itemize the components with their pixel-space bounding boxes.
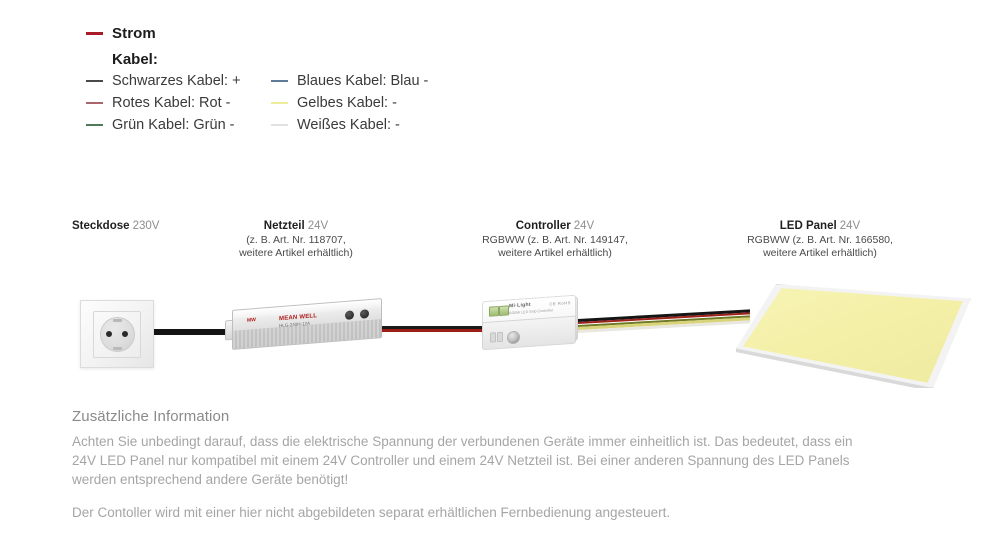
socket-earth-clip-top bbox=[113, 319, 122, 322]
wall-socket bbox=[80, 300, 154, 368]
rgbww-cable-ribbon bbox=[560, 309, 750, 336]
controller-front-face bbox=[482, 316, 576, 351]
driver-logo: MW bbox=[247, 317, 256, 324]
legend-power-row: Strom bbox=[86, 22, 506, 44]
socket-voltage: 230V bbox=[133, 220, 160, 232]
white-cable-label: Weißes Kabel: - bbox=[297, 117, 400, 133]
controller-brand-text: Mi·Light bbox=[509, 302, 531, 310]
controller-voltage: 24V bbox=[574, 220, 594, 232]
led-panel bbox=[736, 284, 971, 388]
legend-cables-heading: Kabel: bbox=[112, 51, 506, 68]
driver-sub-line2: weitere Artikel erhältlich) bbox=[196, 247, 396, 261]
legend-column-left: Schwarzes Kabel: + Rotes Kabel: Rot - Gr… bbox=[86, 70, 271, 136]
blue-cable-label: Blaues Kabel: Blau - bbox=[297, 73, 428, 89]
driver-adjust-knob-1 bbox=[345, 310, 354, 320]
caption-driver: Netzteil 24V (z. B. Art. Nr. 118707, wei… bbox=[196, 220, 396, 261]
red-cable-swatch bbox=[86, 102, 103, 104]
legend-item-white-cable: Weißes Kabel: - bbox=[271, 114, 456, 136]
panel-voltage: 24V bbox=[840, 220, 860, 232]
yellow-cable-label: Gelbes Kabel: - bbox=[297, 95, 397, 111]
driver-voltage: 24V bbox=[308, 220, 328, 232]
panel-caption-main: LED Panel 24V bbox=[700, 220, 940, 234]
legend-cable-columns: Schwarzes Kabel: + Rotes Kabel: Rot - Gr… bbox=[86, 70, 506, 136]
additional-information-section: Zusätzliche Information Achten Sie unbed… bbox=[72, 408, 872, 522]
led-power-supply: MW MEAN WELL HLG-240H-12A bbox=[232, 298, 382, 350]
controller-terminal-1 bbox=[489, 306, 499, 317]
controller-sub-line1: RGBWW (z. B. Art. Nr. 149147, bbox=[450, 234, 660, 248]
legend-item-yellow-cable: Gelbes Kabel: - bbox=[271, 92, 456, 114]
panel-sub-line2: weitere Artikel erhältlich) bbox=[700, 247, 940, 261]
dc-red-wire bbox=[374, 329, 490, 332]
legend-item-red-cable: Rotes Kabel: Rot - bbox=[86, 92, 271, 114]
controller-pairing-button[interactable] bbox=[507, 331, 520, 345]
rgbww-controller: Mi·Light RGBW LED Strip Controller CE Ro… bbox=[482, 295, 574, 349]
controller-sub-line2: weitere Artikel erhältlich) bbox=[450, 247, 660, 261]
caption-panel: LED Panel 24V RGBWW (z. B. Art. Nr. 1665… bbox=[700, 220, 940, 261]
legend-power-label: Strom bbox=[112, 25, 156, 42]
controller-port-1 bbox=[490, 332, 496, 342]
wiring-legend: Strom Kabel: Schwarzes Kabel: + Rotes Ka… bbox=[86, 22, 506, 136]
legend-item-black-cable: Schwarzes Kabel: + bbox=[86, 70, 271, 92]
power-line-swatch bbox=[86, 32, 103, 35]
legend-item-blue-cable: Blaues Kabel: Blau - bbox=[271, 70, 456, 92]
white-cable-swatch bbox=[271, 124, 288, 126]
controller-certification-marks: CE RoHS bbox=[549, 300, 571, 307]
caption-controller: Controller 24V RGBWW (z. B. Art. Nr. 149… bbox=[450, 220, 660, 261]
blue-cable-swatch bbox=[271, 80, 288, 82]
socket-earth-clip-bottom bbox=[113, 347, 122, 350]
controller-port-2 bbox=[497, 332, 503, 342]
legend-item-green-cable: Grün Kabel: Grün - bbox=[86, 114, 271, 136]
black-cable-swatch bbox=[86, 80, 103, 82]
black-cable-label: Schwarzes Kabel: + bbox=[112, 73, 241, 89]
caption-socket: Steckdose 230V bbox=[72, 220, 159, 234]
driver-caption-main: Netzteil 24V bbox=[196, 220, 396, 234]
yellow-cable-swatch bbox=[271, 102, 288, 104]
panel-title: LED Panel bbox=[780, 220, 837, 232]
driver-adjust-knob-2 bbox=[360, 309, 369, 319]
socket-pin-hole-right bbox=[122, 331, 128, 337]
controller-caption-main: Controller 24V bbox=[450, 220, 660, 234]
driver-sub-line1: (z. B. Art. Nr. 118707, bbox=[196, 234, 396, 248]
green-cable-swatch bbox=[86, 124, 103, 126]
socket-recess bbox=[100, 317, 135, 352]
controller-label-text: RGBW LED Strip Controller bbox=[509, 308, 553, 315]
driver-title: Netzteil bbox=[264, 220, 305, 232]
red-cable-label: Rotes Kabel: Rot - bbox=[112, 95, 230, 111]
info-heading: Zusätzliche Information bbox=[72, 408, 872, 425]
green-cable-label: Grün Kabel: Grün - bbox=[112, 117, 235, 133]
legend-column-right: Blaues Kabel: Blau - Gelbes Kabel: - Wei… bbox=[271, 70, 456, 136]
controller-title: Controller bbox=[516, 220, 571, 232]
driver-housing: MW MEAN WELL HLG-240H-12A bbox=[232, 298, 382, 350]
socket-faceplate bbox=[93, 311, 141, 358]
info-paragraph-2: Der Contoller wird mit einer hier nicht … bbox=[72, 503, 872, 522]
socket-title: Steckdose bbox=[72, 220, 130, 232]
panel-sub-line1: RGBWW (z. B. Art. Nr. 166580, bbox=[700, 234, 940, 248]
socket-pin-hole-left bbox=[106, 331, 112, 337]
info-paragraph-1: Achten Sie unbedingt darauf, dass die el… bbox=[72, 432, 872, 489]
controller-terminal-2 bbox=[499, 305, 509, 316]
